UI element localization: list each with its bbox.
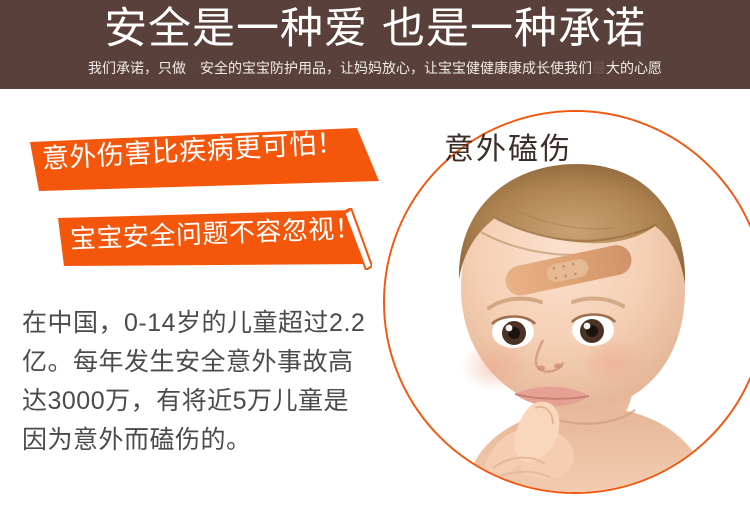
subtitle-segment-mid: 安全的宝宝防护用品，让妈妈放心，让宝宝健健康康成长使我们 — [200, 60, 592, 76]
page-title: 安全是一种爱也是一种承诺 — [0, 3, 750, 55]
subtitle-hidden-char-1: 最 — [186, 60, 200, 76]
baby-photo — [385, 112, 750, 494]
circle-caption: 意外磕伤 — [444, 132, 572, 168]
header-bar: 安全是一种爱也是一种承诺 我们承诺，只做最安全的宝宝防护用品，让妈妈放心，让宝宝… — [0, 0, 750, 89]
alert-banner-secondary: 宝宝安全问题不容忽视！ — [52, 208, 372, 270]
promo-banner-page: 安全是一种爱也是一种承诺 我们承诺，只做最安全的宝宝防护用品，让妈妈放心，让宝宝… — [0, 0, 750, 510]
body-paragraph: 在中国，0-14岁的儿童超过2.2亿。每年发生安全意外事故高达3000万，有将近… — [22, 304, 372, 460]
subtitle-segment-after: 大的心愿 — [606, 60, 662, 76]
page-subtitle: 我们承诺，只做最安全的宝宝防护用品，让妈妈放心，让宝宝健健康康成长使我们最大的心… — [0, 58, 750, 78]
page-title-part1: 安全是一种爱 — [104, 5, 368, 53]
alert-banner-primary: 意外伤害比疾病更可怕！ — [20, 128, 380, 194]
subtitle-hidden-char-2: 最 — [592, 60, 606, 76]
subtitle-segment-before: 我们承诺，只做 — [88, 60, 186, 76]
page-title-part2: 也是一种承诺 — [382, 5, 646, 53]
